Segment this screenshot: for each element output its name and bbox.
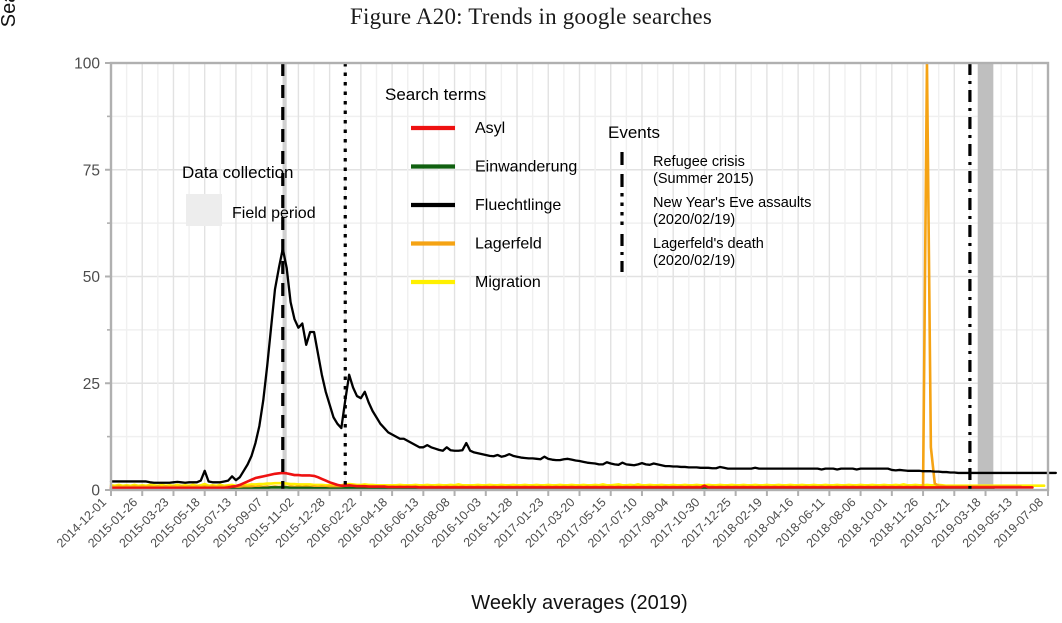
y-tick-label: 75: [83, 162, 100, 179]
legend-term-label-fluechtlinge: Fluechtlinge: [475, 197, 561, 214]
legend-event-label-2-line1: Lagerfeld's death: [653, 236, 764, 252]
y-axis-ticks: 0255075100: [74, 56, 111, 500]
y-tick-label: 50: [83, 269, 101, 286]
legend-term-label-asyl: Asyl: [475, 120, 505, 137]
legend-term-label-lagerfeld: Lagerfeld: [475, 236, 542, 253]
chart-plot: 0255075100 2014-12-012015-01-262015-03-2…: [0, 0, 1062, 623]
field-period-swatch: [186, 194, 222, 226]
legend-event-label-0-line1: Refugee crisis: [653, 154, 745, 170]
legend-event-label-2-line2: (2020/02/19): [653, 253, 735, 269]
legend-event-label-1-line1: New Year's Eve assaults: [653, 195, 811, 211]
legend-event-label-1-line2: (2020/02/19): [653, 212, 735, 228]
grid-lines: [111, 63, 1048, 490]
legend-data-collection-title: Data collection: [182, 163, 294, 182]
legend-field-period-label: Field period: [232, 205, 316, 222]
y-tick-label: 25: [83, 376, 100, 393]
y-tick-label: 100: [74, 56, 100, 73]
legend-search-terms-title: Search terms: [385, 85, 486, 104]
legend-term-label-migration: Migration: [475, 274, 541, 291]
legend-event-label-0-line2: (Summer 2015): [653, 171, 754, 187]
legend-events-title: Events: [608, 123, 660, 142]
legend-term-label-einwanderung: Einwanderung: [475, 159, 577, 176]
figure-container: Figure A20: Trends in google searches Se…: [0, 0, 1062, 623]
x-axis-ticks: 2014-12-012015-01-262015-03-232015-05-18…: [54, 490, 1048, 550]
